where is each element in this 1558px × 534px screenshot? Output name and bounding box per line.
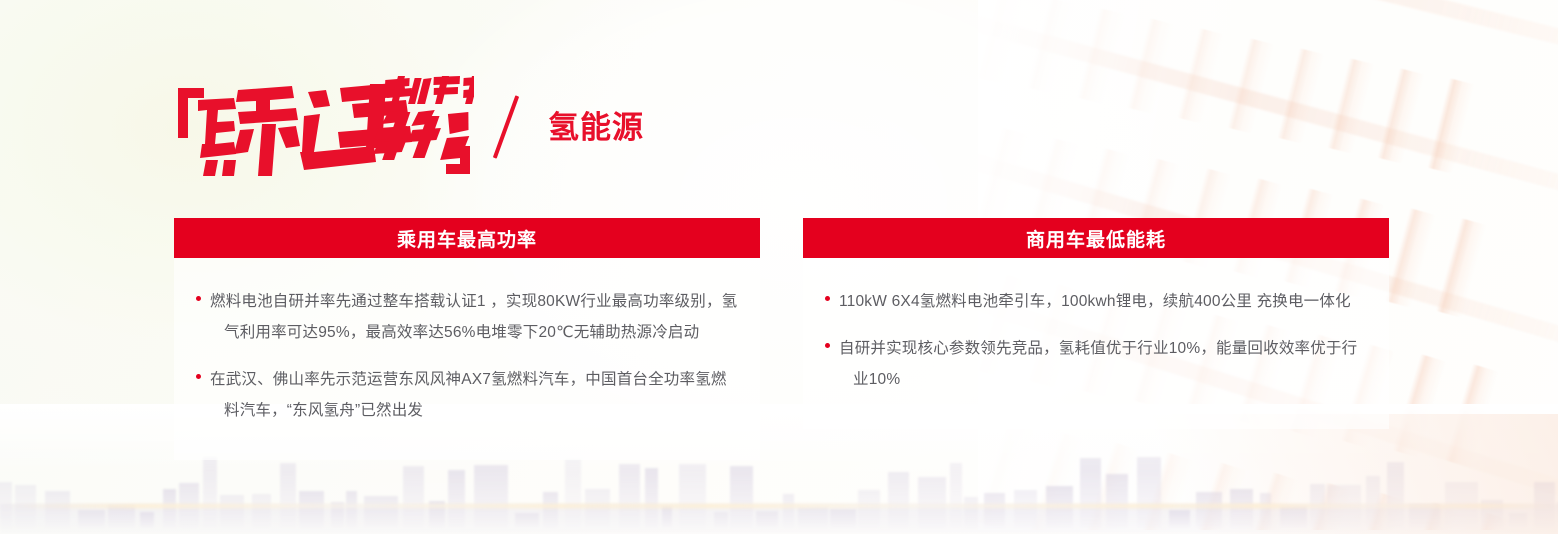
- slash-icon: [493, 95, 519, 158]
- card-title: 乘用车最高功率: [174, 218, 760, 258]
- logo-divider: [480, 90, 538, 164]
- cityscape-river: [0, 504, 1558, 534]
- card-body: 燃料电池自研并率先通过整车搭载认证1 ，实现80KW行业最高功率级别，氢气利用率…: [174, 258, 760, 460]
- bullet-item: 在武汉、佛山率先示范运营东风风神AX7氢燃料汽车，中国首台全功率氢燃料汽车，“东…: [196, 364, 738, 426]
- bullet-dot-icon: [196, 374, 201, 379]
- bullet-dot-icon: [825, 343, 830, 348]
- info-card: 乘用车最高功率 燃料电池自研并率先通过整车搭载认证1 ，实现80KW行业最高功率…: [174, 218, 760, 460]
- bullet-item: 燃料电池自研并率先通过整车搭载认证1 ，实现80KW行业最高功率级别，氢气利用率…: [196, 286, 738, 348]
- bullet-text: 自研并实现核心参数领先竞品，氢耗值优于行业10%，能量回收效率优于行业10%: [839, 333, 1367, 395]
- banner-root: 氢能源 乘用车最高功率 燃料电池自研并率先通过整车搭载认证1 ，实现80KW行业…: [0, 0, 1558, 534]
- card-title: 商用车最低能耗: [803, 218, 1389, 258]
- bullet-item: 自研并实现核心参数领先竞品，氢耗值优于行业10%，能量回收效率优于行业10%: [825, 333, 1367, 395]
- bullet-text: 在武汉、佛山率先示范运营东风风神AX7氢燃料汽车，中国首台全功率氢燃料汽车，“东…: [210, 364, 738, 426]
- bullet-dot-icon: [196, 296, 201, 301]
- bullet-text: 110kW 6X4氢燃料电池牵引车，100kwh锂电，续航400公里 充换电一体…: [839, 286, 1351, 317]
- background-warm-wash: [938, 414, 1558, 534]
- yueqian-logo: [174, 76, 474, 178]
- bullet-text: 燃料电池自研并率先通过整车搭载认证1 ，实现80KW行业最高功率级别，氢气利用率…: [210, 286, 738, 348]
- bullet-dot-icon: [825, 296, 830, 301]
- brand-header: 氢能源: [174, 74, 644, 180]
- card-body: 110kW 6X4氢燃料电池牵引车，100kwh锂电，续航400公里 充换电一体…: [803, 258, 1389, 429]
- bullet-item: 110kW 6X4氢燃料电池牵引车，100kwh锂电，续航400公里 充换电一体…: [825, 286, 1367, 317]
- page-subtitle: 氢能源: [548, 112, 644, 143]
- info-card: 商用车最低能耗 110kW 6X4氢燃料电池牵引车，100kwh锂电，续航400…: [803, 218, 1389, 429]
